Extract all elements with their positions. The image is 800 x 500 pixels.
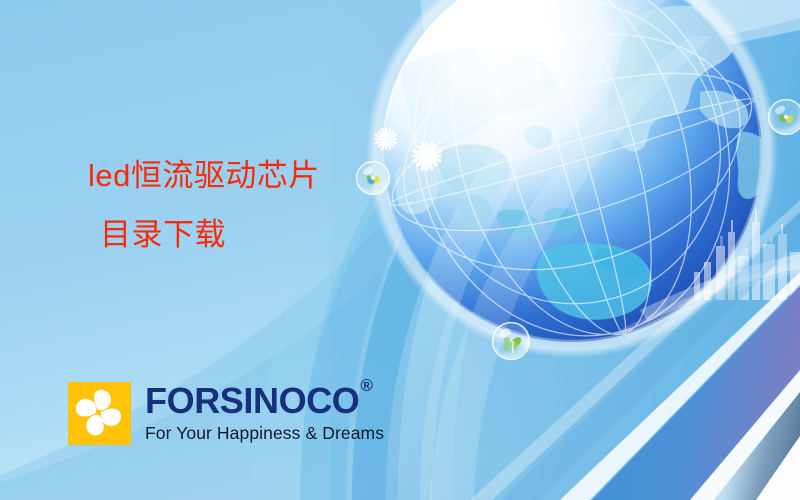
soap-bubble-icon	[492, 322, 530, 360]
logo-wordmark: FORSINOCO®	[145, 383, 372, 419]
soap-bubble-icon	[356, 161, 390, 195]
asterisk-sparkle-icon	[414, 143, 440, 169]
marketing-hero-banner: led恒流驱动芯片 目录下载 FORSINOCO® For Your Happi…	[0, 0, 800, 500]
asterisk-sparkle-icon	[376, 129, 396, 149]
logo-text-block: FORSINOCO® For Your Happiness & Dreams	[145, 383, 384, 443]
logo-tagline: For Your Happiness & Dreams	[145, 425, 384, 443]
registered-trademark-icon: ®	[360, 376, 372, 395]
soap-bubble-icon	[768, 99, 800, 135]
logo-wordmark-text: FORSINOCO	[145, 380, 359, 421]
company-logo[interactable]: FORSINOCO® For Your Happiness & Dreams	[68, 382, 384, 445]
four-petal-pinwheel-icon	[68, 382, 131, 445]
